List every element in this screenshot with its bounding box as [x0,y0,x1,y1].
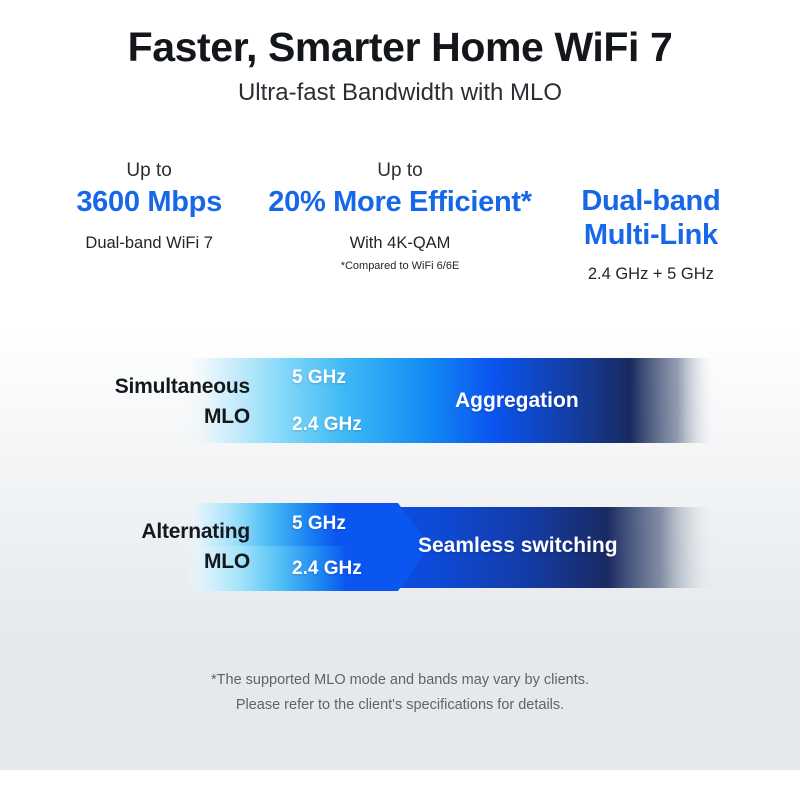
page-title: Faster, Smarter Home WiFi 7 [0,22,800,72]
stat-value-line2: Multi-Link [532,218,770,252]
stat-note: *Compared to WiFi 6/6E [268,258,531,275]
stat-spacer [532,158,770,184]
stat-prefix: Up to [30,158,268,184]
mlo-label-line2: MLO [60,547,250,577]
stat-caption: 2.4 GHz + 5 GHz [532,262,770,286]
page-subtitle: Ultra-fast Bandwidth with MLO [0,76,800,110]
page-header: Faster, Smarter Home WiFi 7 Ultra-fast B… [0,22,800,110]
stat-value-line1: Dual-band [532,184,770,218]
simultaneous-band-5ghz: 5 GHz [292,366,346,390]
footnote-line-2: Please refer to the client's specificati… [0,693,800,718]
mlo-label-line1: Alternating [141,520,250,543]
stats-row: Up to 3600 Mbps Dual-band WiFi 7 Up to 2… [30,158,770,286]
stat-card-efficiency: Up to 20% More Efficient* With 4K-QAM *C… [268,158,531,275]
stat-card-throughput: Up to 3600 Mbps Dual-band WiFi 7 [30,158,268,255]
promo-page: Faster, Smarter Home WiFi 7 Ultra-fast B… [0,0,800,800]
alternating-band-24ghz: 2.4 GHz [292,557,362,581]
simultaneous-mlo-label: Simultaneous MLO [60,372,250,432]
mlo-diagram-alternating: Alternating MLO [0,495,800,605]
stat-caption: Dual-band WiFi 7 [30,231,268,255]
mlo-label-line2: MLO [60,402,250,432]
simultaneous-band-24ghz: 2.4 GHz [292,413,362,437]
stat-value: 3600 Mbps [30,184,268,221]
stat-prefix: Up to [268,158,531,184]
stat-caption: With 4K-QAM [268,231,531,255]
simultaneous-mode-aggregation: Aggregation [455,388,579,414]
mlo-diagram-simultaneous: Simultaneous MLO [0,350,800,460]
stat-value: 20% More Efficient* [268,184,531,221]
mlo-label-line1: Simultaneous [115,375,250,398]
footnote-line-1: *The supported MLO mode and bands may va… [0,668,800,693]
alternating-band-5ghz: 5 GHz [292,512,346,536]
alternating-mlo-label: Alternating MLO [60,517,250,577]
footnote: *The supported MLO mode and bands may va… [0,668,800,718]
alternating-mode-seamless-switching: Seamless switching [418,533,618,559]
stat-card-multilink: Dual-band Multi-Link 2.4 GHz + 5 GHz [532,158,770,286]
